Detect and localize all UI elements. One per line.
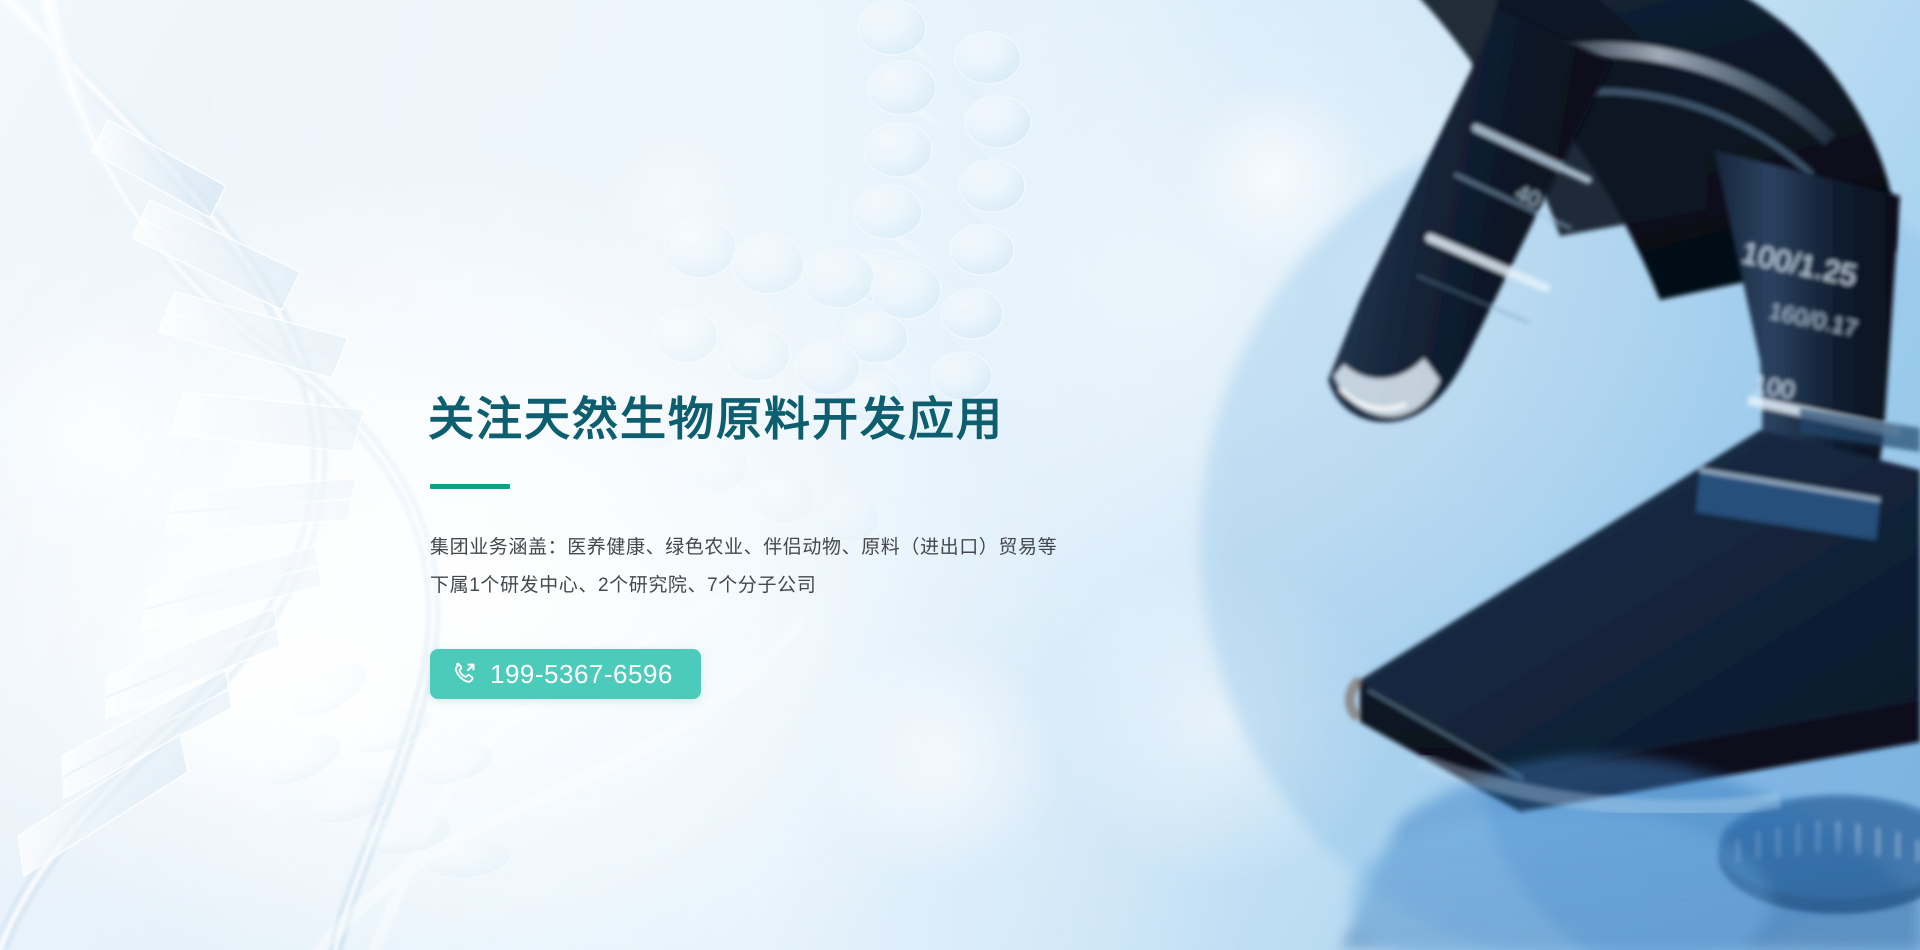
bokeh-light [1320,200,1490,370]
bokeh-light [0,300,220,560]
svg-text:160/0.17: 160/0.17 [1767,297,1860,341]
phone-call-button[interactable]: 199-5367-6596 [430,649,701,699]
bokeh-light [600,120,750,270]
description-line-2: 下属1个研发中心、2个研究院、7个分子公司 [430,567,1208,605]
hero-description: 集团业务涵盖：医养健康、绿色农业、伴侣动物、原料（进出口）贸易等 下属1个研发中… [430,529,1208,605]
bokeh-light [90,520,390,820]
svg-text:100/1.25: 100/1.25 [1739,237,1860,294]
hero-banner: 40 100/1.25 160/0.17 100 [0,0,1920,950]
bokeh-light [1180,80,1370,270]
svg-text:40: 40 [1512,180,1545,213]
phone-number-label: 199-5367-6596 [490,661,673,687]
title-divider [430,484,510,489]
outgoing-call-icon [452,661,478,687]
hero-content: 关注天然生物原料开发应用 集团业务涵盖：医养健康、绿色农业、伴侣动物、原料（进出… [428,392,1208,699]
svg-text:100: 100 [1751,370,1797,405]
description-line-1: 集团业务涵盖：医养健康、绿色农业、伴侣动物、原料（进出口）贸易等 [430,529,1208,567]
page-title: 关注天然生物原料开发应用 [428,392,1208,446]
